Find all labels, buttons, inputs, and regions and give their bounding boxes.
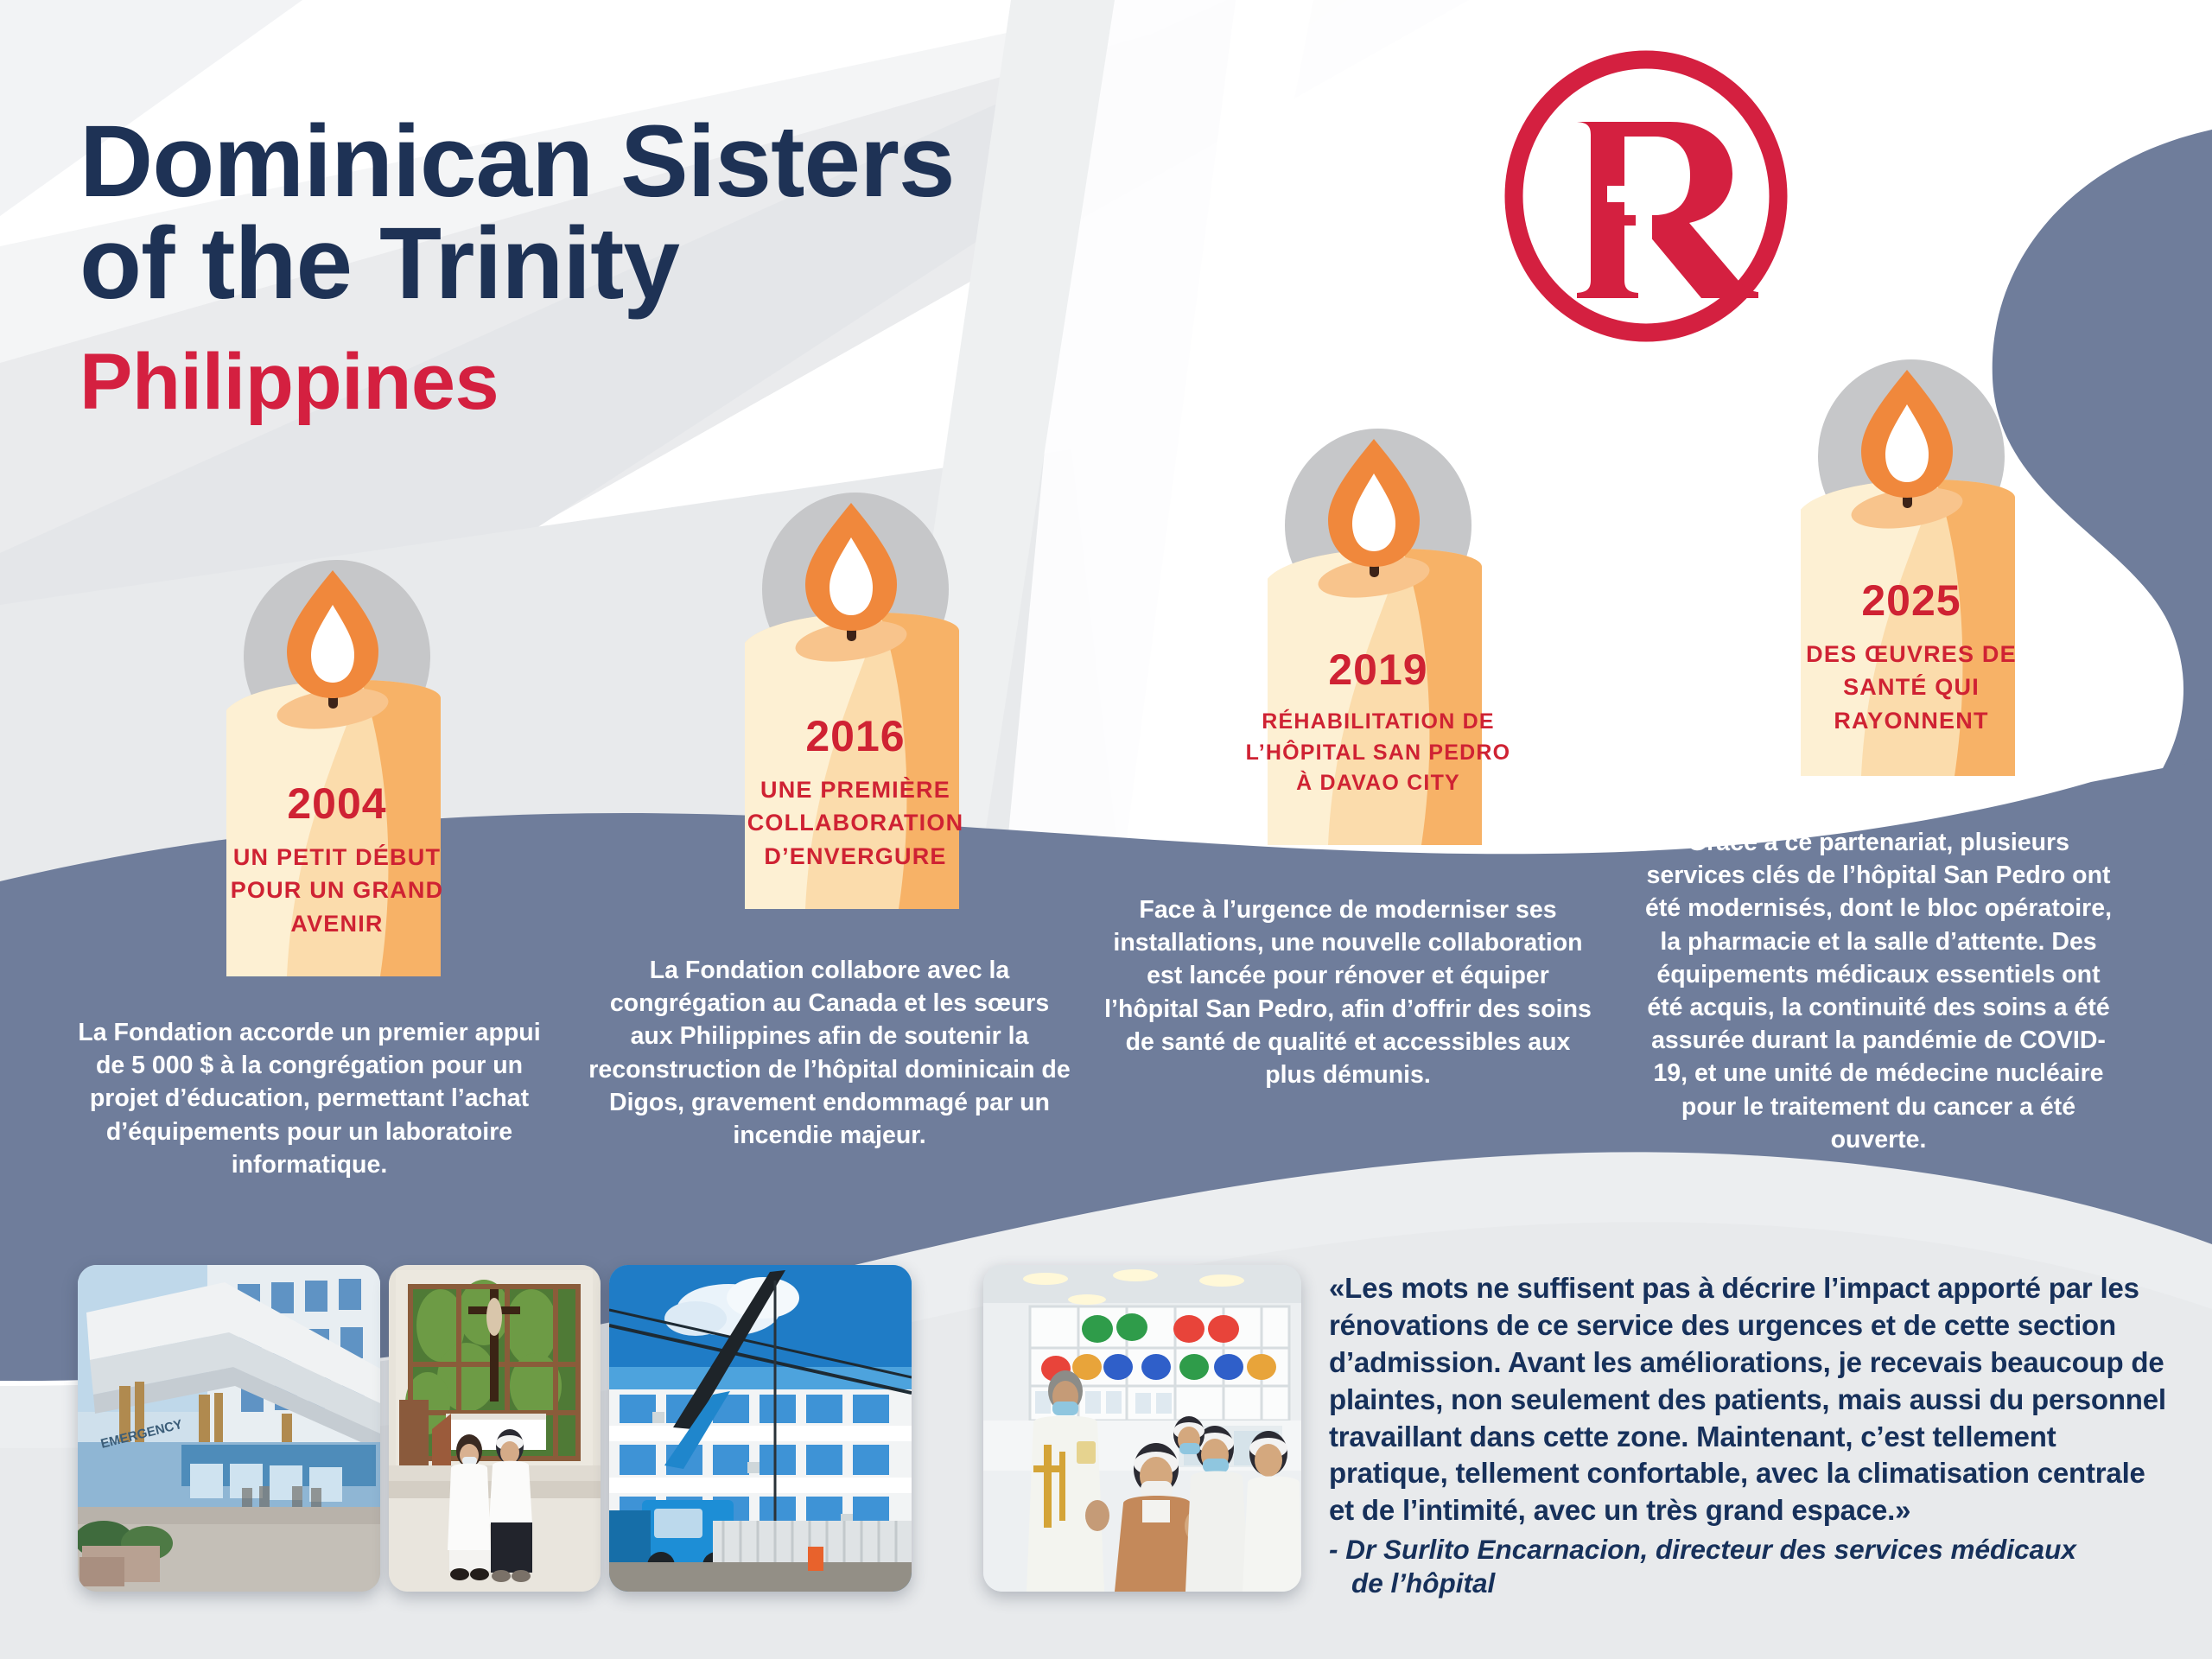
timeline-2019-body: Face à l’urgence de moderniser ses insta… (1102, 893, 1594, 1091)
header-block: Dominican Sisters of the Trinity Philipp… (79, 111, 1116, 422)
timeline-column-2025: 2025 DES ŒUVRES DE SANTÉ QUI RAYONNENT G… (1609, 344, 2145, 1156)
infographic-canvas: Dominican Sisters of the Trinity Philipp… (0, 0, 2212, 1659)
candle-2019: 2019 RÉHABILITATION DE L’HÔPITAL SAN PED… (1076, 413, 1611, 845)
timeline-2025-body: Grâce à ce partenariat, plusieurs servic… (1637, 826, 2120, 1156)
photo-3-image (609, 1265, 912, 1592)
timeline-2016-body: La Fondation collabore avec la congrégat… (588, 954, 1071, 1152)
page-title: Dominican Sisters of the Trinity (79, 111, 1116, 315)
photo-2-image (389, 1265, 601, 1592)
testimonial-block: «Les mots ne suffisent pas à décrire l’i… (1329, 1270, 2171, 1600)
attribution-line-2: de l’hôpital (1329, 1567, 2171, 1600)
title-line-2: of the Trinity (79, 213, 1116, 315)
logo-icon (1497, 48, 1796, 346)
testimonial-attribution: - Dr Surlito Encarnacion, directeur des … (1329, 1533, 2171, 1600)
photo-1-image: EMERGENCY (78, 1265, 380, 1592)
attribution-line-1: - Dr Surlito Encarnacion, directeur des … (1329, 1534, 2076, 1565)
timeline-column-2004: 2004 UN PETIT DÉBUT POUR UN GRAND AVENIR… (35, 544, 570, 1181)
candle-2019-icon (1076, 413, 1611, 845)
country-subtitle: Philippines (79, 342, 1116, 422)
candle-2004: 2004 UN PETIT DÉBUT POUR UN GRAND AVENIR (35, 544, 570, 976)
candle-2025-icon (1609, 344, 2145, 776)
photo-pharmacy-group[interactable] (983, 1265, 1301, 1592)
logo-letter-r (1577, 122, 1758, 298)
timeline-column-2019: 2019 RÉHABILITATION DE L’HÔPITAL SAN PED… (1076, 413, 1611, 1091)
candle-2025: 2025 DES ŒUVRES DE SANTÉ QUI RAYONNENT (1609, 344, 2145, 776)
photo-4-image (983, 1265, 1301, 1592)
candle-2016: 2016 UNE PREMIÈRE COLLABORATION D’ENVERG… (553, 477, 1089, 909)
organization-logo[interactable] (1497, 48, 1796, 346)
testimonial-quote: «Les mots ne suffisent pas à décrire l’i… (1329, 1270, 2171, 1529)
photo-construction-crane[interactable] (609, 1265, 912, 1592)
photo-two-sisters-chapel[interactable] (389, 1265, 601, 1592)
timeline-2004-body: La Fondation accorde un premier appui de… (67, 1016, 551, 1181)
photo-hospital-emergency-entrance[interactable]: EMERGENCY (78, 1265, 380, 1592)
candle-2004-icon (35, 544, 570, 976)
candle-2016-icon (553, 477, 1089, 909)
timeline-column-2016: 2016 UNE PREMIÈRE COLLABORATION D’ENVERG… (553, 477, 1089, 1152)
bg-bottom-strip (0, 1607, 2212, 1659)
title-line-1: Dominican Sisters (79, 105, 955, 219)
